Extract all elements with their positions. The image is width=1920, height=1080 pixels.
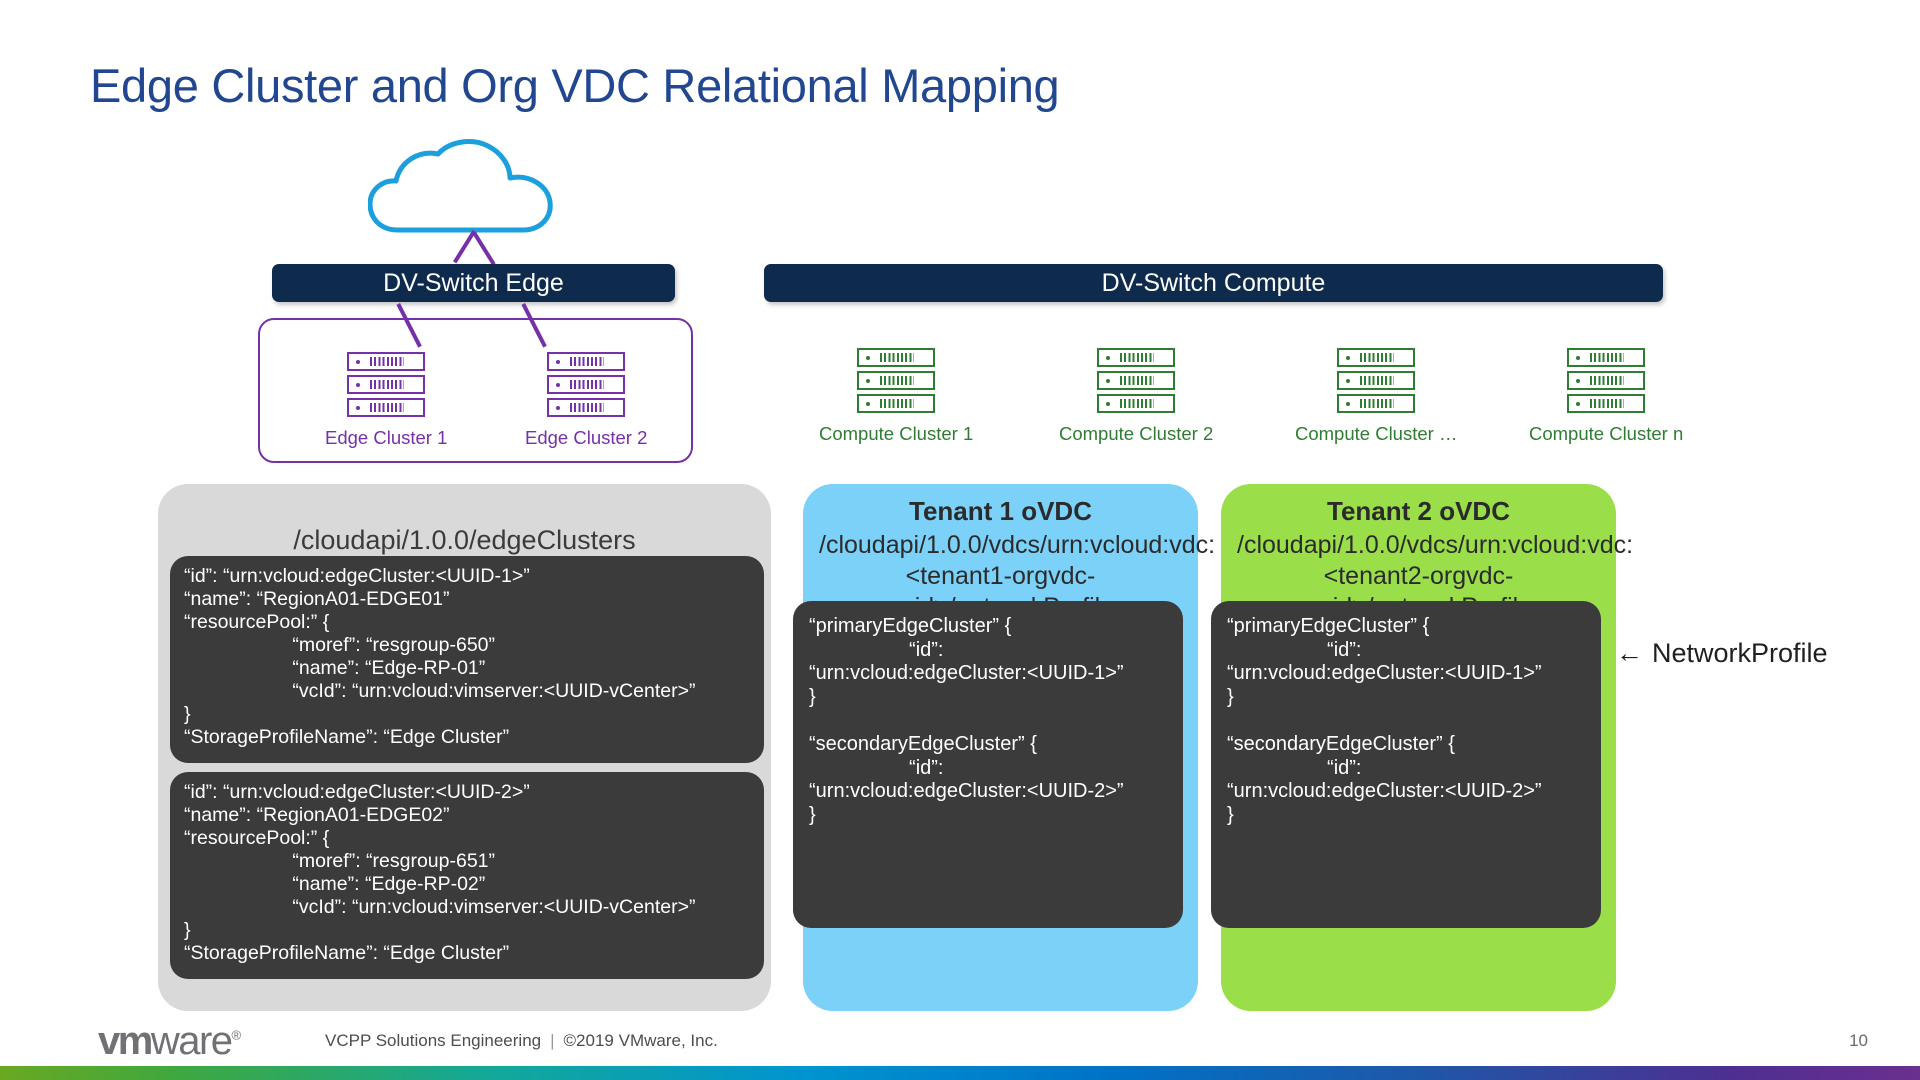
server-icon xyxy=(547,375,625,394)
cloud-icon xyxy=(368,138,583,233)
edge-cluster-2[interactable]: Edge Cluster 2 xyxy=(525,352,647,449)
vmware-logo: vmware® xyxy=(98,1019,240,1064)
edge-clusters-url: /cloudapi/1.0.0/edgeClusters xyxy=(158,484,771,557)
server-icon xyxy=(857,348,935,367)
slide-number: 10 xyxy=(1849,1031,1868,1051)
compute-cluster-2[interactable]: Compute Cluster 2 xyxy=(1059,348,1213,445)
footer-credit: VCPP Solutions Engineering|©2019 VMware,… xyxy=(325,1031,718,1051)
compute-cluster-n-label: Compute Cluster n xyxy=(1529,423,1683,445)
compute-cluster-ellipsis[interactable]: Compute Cluster … xyxy=(1295,348,1457,445)
footer-separator: | xyxy=(550,1031,554,1050)
server-icon xyxy=(1097,371,1175,390)
server-icon xyxy=(857,371,935,390)
server-icon xyxy=(1097,394,1175,413)
compute-cluster-n[interactable]: Compute Cluster n xyxy=(1529,348,1683,445)
dvswitch-edge-bar[interactable]: DV-Switch Edge xyxy=(272,264,675,302)
dvswitch-edge-label: DV-Switch Edge xyxy=(383,269,564,298)
vmware-logo-bold: vm xyxy=(98,1019,151,1063)
dvswitch-compute-bar[interactable]: DV-Switch Compute xyxy=(764,264,1663,302)
edge-cluster-2-json: “id”: “urn:vcloud:edgeCluster:<UUID-2>” … xyxy=(170,772,764,979)
edge-cluster-1[interactable]: Edge Cluster 1 xyxy=(325,352,447,449)
tenant2-title: Tenant 2 oVDC xyxy=(1221,484,1616,528)
tenant1-networkprofile-json: “primaryEdgeCluster” { “id”: “urn:vcloud… xyxy=(793,601,1183,928)
server-icon xyxy=(547,398,625,417)
compute-cluster-2-label: Compute Cluster 2 xyxy=(1059,423,1213,445)
compute-cluster-1[interactable]: Compute Cluster 1 xyxy=(819,348,973,445)
networkprofile-callout: ←NetworkProfile xyxy=(1616,638,1828,669)
server-icon xyxy=(857,394,935,413)
server-icon xyxy=(1337,348,1415,367)
server-icon xyxy=(547,352,625,371)
edge-cluster-1-json: “id”: “urn:vcloud:edgeCluster:<UUID-1>” … xyxy=(170,556,764,763)
server-icon xyxy=(347,398,425,417)
server-icon xyxy=(1567,371,1645,390)
footer-team: VCPP Solutions Engineering xyxy=(325,1031,541,1050)
tenant2-networkprofile-json: “primaryEdgeCluster” { “id”: “urn:vcloud… xyxy=(1211,601,1601,928)
server-icon xyxy=(1337,394,1415,413)
edge-cluster-1-label: Edge Cluster 1 xyxy=(325,427,447,449)
server-icon xyxy=(347,375,425,394)
page-title: Edge Cluster and Org VDC Relational Mapp… xyxy=(90,58,1059,113)
compute-cluster-1-label: Compute Cluster 1 xyxy=(819,423,973,445)
edge-cluster-2-label: Edge Cluster 2 xyxy=(525,427,647,449)
networkprofile-callout-label: NetworkProfile xyxy=(1652,638,1828,668)
vmware-logo-rest: ware xyxy=(151,1019,232,1063)
bottom-gradient-bar xyxy=(0,1066,1920,1080)
server-icon xyxy=(1567,394,1645,413)
server-icon xyxy=(1567,348,1645,367)
server-icon xyxy=(1097,348,1175,367)
left-arrow-icon: ← xyxy=(1616,638,1643,668)
footer-copyright: ©2019 VMware, Inc. xyxy=(564,1031,718,1050)
compute-cluster-ellipsis-label: Compute Cluster … xyxy=(1295,423,1457,445)
dvswitch-compute-label: DV-Switch Compute xyxy=(1102,269,1326,298)
server-icon xyxy=(347,352,425,371)
tenant1-title: Tenant 1 oVDC xyxy=(803,484,1198,528)
registered-mark-icon: ® xyxy=(232,1028,240,1043)
server-icon xyxy=(1337,371,1415,390)
